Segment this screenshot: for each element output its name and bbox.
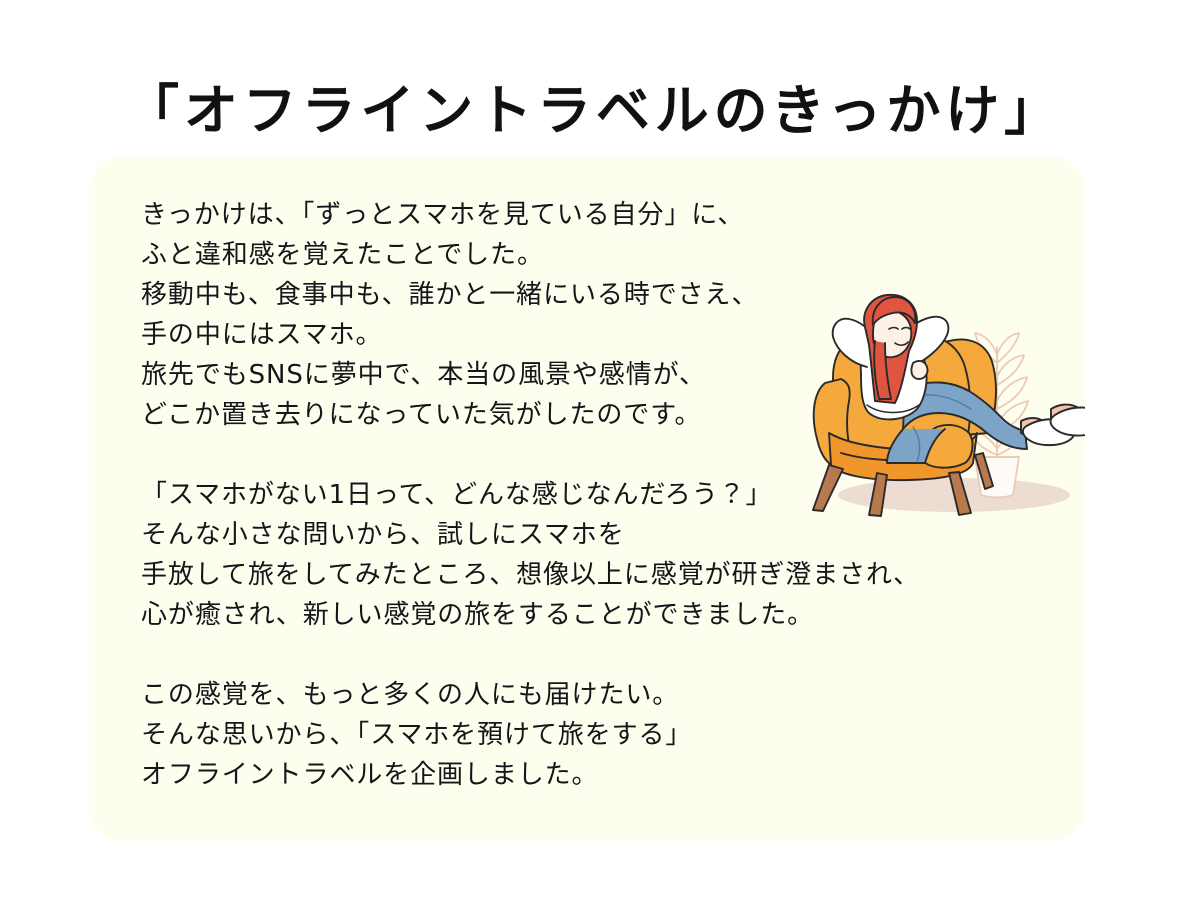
paragraph-line: この感覚を、もっと多くの人にも届けたい。	[141, 680, 679, 710]
page-title: 「オフライントラベルのきっかけ」	[125, 80, 1063, 142]
woman-relaxing-in-armchair-illustration	[789, 267, 1085, 517]
paragraph-line: 移動中も、食事中も、誰かと一緒にいる時でさえ、	[141, 280, 758, 310]
paragraph-line: 手放して旅をしてみたところ、想像以上に感覚が研ぎ澄まされ、	[141, 560, 920, 590]
paragraph-3: この感覚を、もっと多くの人にも届けたい。 そんな思いから、「スマホを預けて旅をす…	[141, 675, 861, 795]
paragraph-line: きっかけは、「ずっとスマホを見ている自分」に、	[141, 200, 744, 230]
paragraph-line: ふと違和感を覚えたことでした。	[141, 240, 544, 270]
paragraph-line: 手の中にはスマホ。	[141, 320, 382, 350]
paragraph-line: どこか置き去りになっていた気がしたのです。	[141, 400, 701, 430]
body-copy: きっかけは、「ずっとスマホを見ている自分」に、 ふと違和感を覚えたことでした。 …	[141, 195, 861, 795]
page-root: 「オフライントラベルのきっかけ」 きっかけは、「ずっとスマホを見ている自分」に、…	[0, 0, 1200, 900]
paragraph-2: 「スマホがない1日って、どんな感じなんだろう？」 そんな小さな問いから、試しにス…	[141, 475, 861, 635]
paragraph-line: そんな思いから、「スマホを預けて旅をする」	[141, 720, 692, 750]
paragraph-line: オフライントラベルを企画しました。	[141, 760, 598, 790]
paragraph-line: 「スマホがない1日って、どんな感じなんだろう？」	[141, 480, 772, 510]
paragraph-1: きっかけは、「ずっとスマホを見ている自分」に、 ふと違和感を覚えたことでした。 …	[141, 195, 861, 435]
paragraph-line: 旅先でもSNSに夢中で、本当の風景や感情が、	[141, 360, 706, 390]
paragraph-line: そんな小さな問いから、試しにスマホを	[141, 520, 625, 550]
paragraph-line: 心が癒され、新しい感覚の旅をすることができました。	[141, 600, 814, 630]
content-card: きっかけは、「ずっとスマホを見ている自分」に、 ふと違和感を覚えたことでした。 …	[89, 157, 1085, 841]
